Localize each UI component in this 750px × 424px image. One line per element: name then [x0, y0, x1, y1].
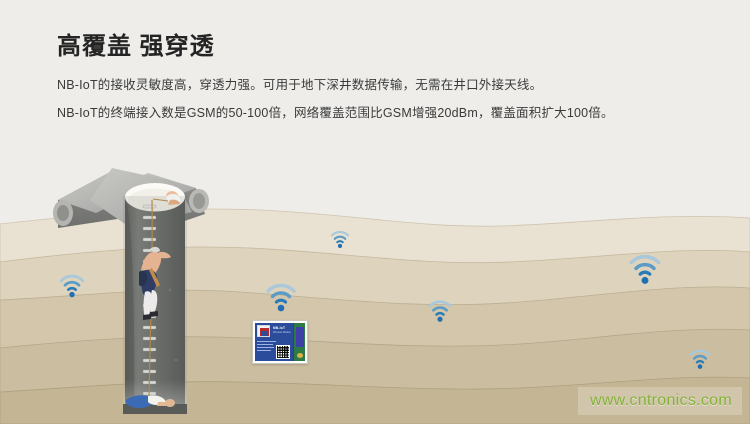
module-brand-logo-icon — [257, 325, 270, 337]
body-line-2: NB-IoT的终端接入数是GSM的50-100倍，网络覆盖范围比GSM增强20d… — [57, 103, 717, 123]
module-logo-mark-icon — [260, 328, 269, 336]
module-card-face: NB-IoT Wireless Module — [255, 323, 305, 361]
page-title: 高覆盖 强穿透 — [57, 32, 717, 62]
watermark: www.cntronics.com — [578, 387, 742, 415]
body-paragraph: NB-IoT的接收灵敏度高，穿透力强。可用于地下深井数据传输，无需在井口外接天线… — [57, 75, 717, 123]
module-spec-lines — [257, 341, 276, 353]
body-line-1: NB-IoT的接收灵敏度高，穿透力强。可用于地下深井数据传输，无需在井口外接天线… — [57, 75, 717, 95]
climber-boot-left — [143, 314, 151, 320]
module-subtitle: Wireless Module — [273, 331, 291, 334]
module-title: NB-IoT — [273, 326, 285, 330]
slab-end-cap-left-inner — [57, 205, 69, 221]
module-pcb-board — [293, 323, 305, 361]
module-contact-pad-icon — [297, 353, 303, 358]
climber-boot-right — [150, 311, 158, 317]
module-chip-icon — [296, 327, 304, 347]
nb-iot-module-card: NB-IoT Wireless Module — [252, 320, 308, 364]
slide-canvas: NB-IoT Wireless Module 高覆盖 强穿透 NB-IoT的接收… — [0, 0, 750, 424]
qr-code-icon — [276, 345, 290, 359]
module-card-label-area: NB-IoT Wireless Module — [255, 323, 293, 361]
text-block: 高覆盖 强穿透 NB-IoT的接收灵敏度高，穿透力强。可用于地下深井数据传输，无… — [57, 32, 717, 123]
watermark-text: www.cntronics.com — [590, 392, 732, 410]
slab-end-cap-right-inner — [193, 193, 205, 209]
